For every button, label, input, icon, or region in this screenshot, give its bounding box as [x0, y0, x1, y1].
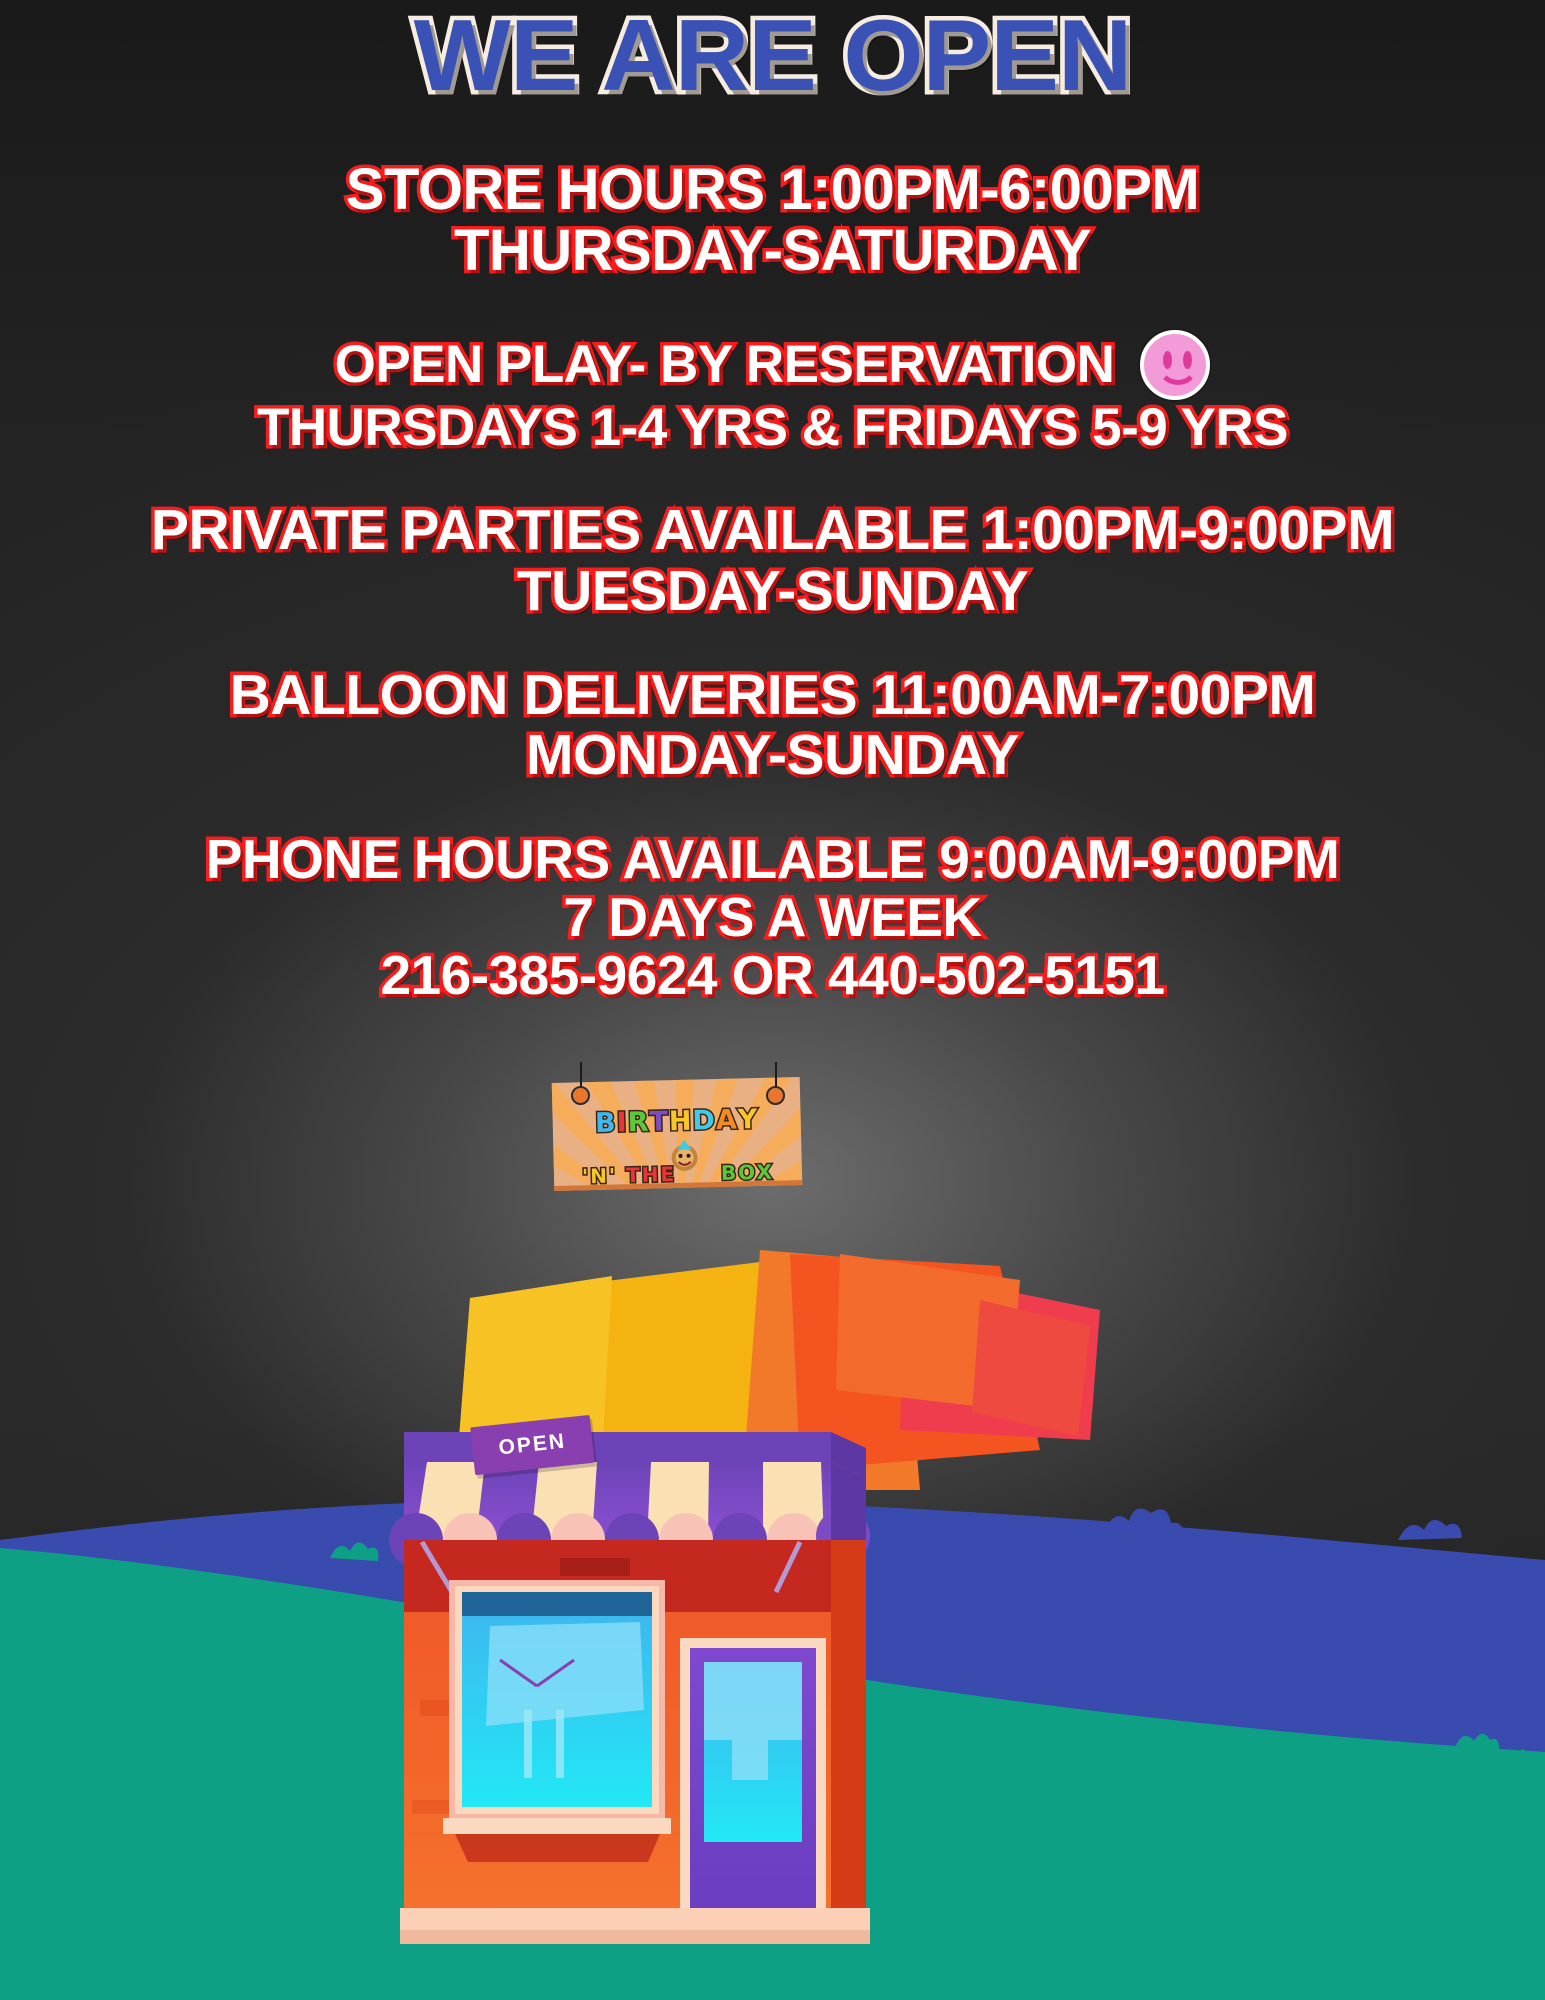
- sign-ring-left: [571, 1086, 590, 1105]
- poster-canvas: BIRTHDAY 'N' THE BOX: [0, 0, 1545, 2000]
- section-private-parties: PRIVATE PARTIES AVAILABLE 1:00PM-9:00PM …: [0, 500, 1545, 621]
- logo-letter: R: [627, 1107, 650, 1139]
- logo-letter: T: [649, 1106, 669, 1137]
- smiley-mouth: [1157, 357, 1199, 385]
- store-hours-line-2: THURSDAY-SATURDAY: [0, 220, 1545, 281]
- logo-letter: D: [692, 1105, 716, 1137]
- storefront-illustration: [0, 1240, 1545, 2000]
- sign-wire-right: [775, 1062, 777, 1088]
- section-store-hours: STORE HOURS 1:00PM-6:00PM THURSDAY-SATUR…: [0, 159, 1545, 282]
- lion-mascot-icon: [664, 1135, 705, 1176]
- open-play-line-2: THURSDAYS 1-4 YRS & FRIDAYS 5-9 YRS: [0, 400, 1545, 456]
- phone-numbers: 216-385-9624 OR 440-502-5151: [0, 946, 1545, 1004]
- open-placard-label: OPEN: [498, 1430, 568, 1461]
- sign-wire-left: [580, 1062, 582, 1088]
- logo-letter: B: [595, 1107, 617, 1139]
- section-balloon-deliveries: BALLOON DELIVERIES 11:00AM-7:00PM MONDAY…: [0, 665, 1545, 786]
- page-title: WE ARE OPEN: [0, 0, 1545, 107]
- balloon-deliveries-line-1: BALLOON DELIVERIES 11:00AM-7:00PM: [0, 665, 1545, 725]
- smiley-face-icon: [1140, 330, 1210, 400]
- logo-word-n: 'N': [582, 1163, 618, 1188]
- logo-word-box: BOX: [721, 1160, 775, 1185]
- private-parties-line-2: TUESDAY-SUNDAY: [0, 561, 1545, 621]
- sign-ring-right: [766, 1086, 785, 1105]
- logo-letter: H: [668, 1106, 692, 1138]
- section-phone-hours: PHONE HOURS AVAILABLE 9:00AM-9:00PM 7 DA…: [0, 830, 1545, 1005]
- private-parties-line-1: PRIVATE PARTIES AVAILABLE 1:00PM-9:00PM: [0, 500, 1545, 560]
- logo-letter: Y: [737, 1104, 758, 1135]
- poster-text-block: WE ARE OPEN STORE HOURS 1:00PM-6:00PM TH…: [0, 0, 1545, 1005]
- balloon-deliveries-line-2: MONDAY-SUNDAY: [0, 725, 1545, 785]
- phone-hours-line-2: 7 DAYS A WEEK: [0, 888, 1545, 946]
- open-play-line-1: OPEN PLAY- BY RESERVATION: [335, 337, 1115, 393]
- logo-letter: A: [716, 1105, 739, 1137]
- phone-hours-line-1: PHONE HOURS AVAILABLE 9:00AM-9:00PM: [0, 830, 1545, 888]
- open-placard: OPEN: [470, 1415, 596, 1487]
- logo-letter: I: [616, 1107, 628, 1138]
- logo-word-birthday: BIRTHDAY: [552, 1103, 801, 1140]
- birthday-n-the-box-sign: BIRTHDAY 'N' THE BOX: [553, 1062, 801, 1188]
- store-hours-line-1: STORE HOURS 1:00PM-6:00PM: [0, 159, 1545, 220]
- section-open-play: OPEN PLAY- BY RESERVATION THURSDAYS 1-4 …: [0, 330, 1545, 456]
